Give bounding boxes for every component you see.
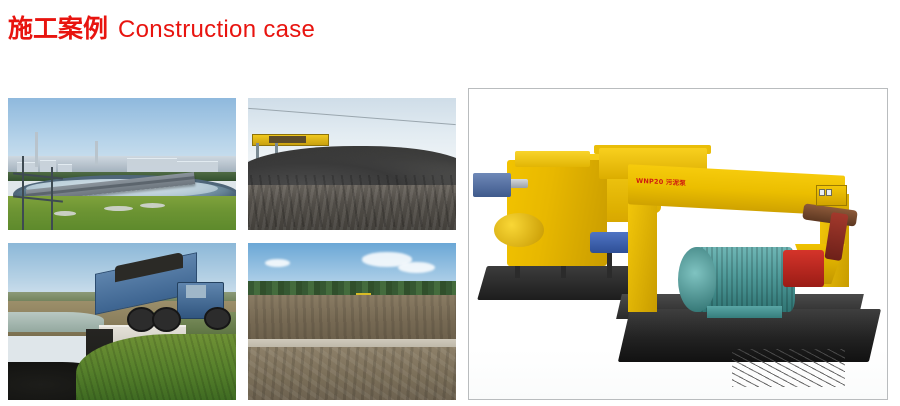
pump-flange: [494, 213, 544, 247]
motor-fan-cover: [678, 247, 716, 312]
cable-bundle: [732, 349, 845, 386]
photo-4-scene: [248, 243, 456, 400]
cloud: [398, 262, 435, 273]
pump-top-hood: [515, 151, 590, 167]
page-title: 施工案例Construction case: [8, 16, 315, 42]
left-unit-leg: [607, 250, 612, 278]
railing-bar: [13, 196, 63, 203]
photo-1-scene: [8, 98, 236, 230]
truck-wheel: [204, 307, 231, 330]
foreground-railing: [8, 98, 236, 230]
page-title-chinese: 施工案例: [8, 14, 108, 43]
red-pump-head: [783, 250, 825, 287]
gallery-photo-treatment-plant[interactable]: [8, 98, 236, 230]
panel-gauge: [826, 189, 832, 196]
control-panel: [816, 185, 847, 206]
upper-sludge-bed: [248, 295, 456, 345]
product-scene: WNP20 污泥泵: [469, 89, 887, 399]
lower-sludge-bed: [248, 347, 456, 400]
railing-bar: [13, 172, 63, 179]
shaft-coupling: [473, 173, 511, 198]
page-title-english: Construction case: [118, 16, 315, 43]
tire-tracks: [248, 175, 456, 228]
panel-gauge: [819, 189, 825, 196]
photo-3-scene: [8, 243, 236, 400]
truck-wheel: [152, 307, 181, 331]
left-unit-skid-base: [477, 266, 637, 300]
cloud: [265, 259, 290, 267]
gallery-photo-dump-truck[interactable]: [8, 243, 236, 400]
truck-window: [186, 285, 207, 298]
railing-post: [22, 156, 24, 230]
photo-2-scene: [248, 98, 456, 230]
motor-mounting-foot: [707, 306, 782, 318]
gallery-photo-sludge-heap[interactable]: [248, 98, 456, 230]
main-product-photo[interactable]: WNP20 污泥泵: [468, 88, 888, 400]
gallery-photo-drying-bed[interactable]: [248, 243, 456, 400]
